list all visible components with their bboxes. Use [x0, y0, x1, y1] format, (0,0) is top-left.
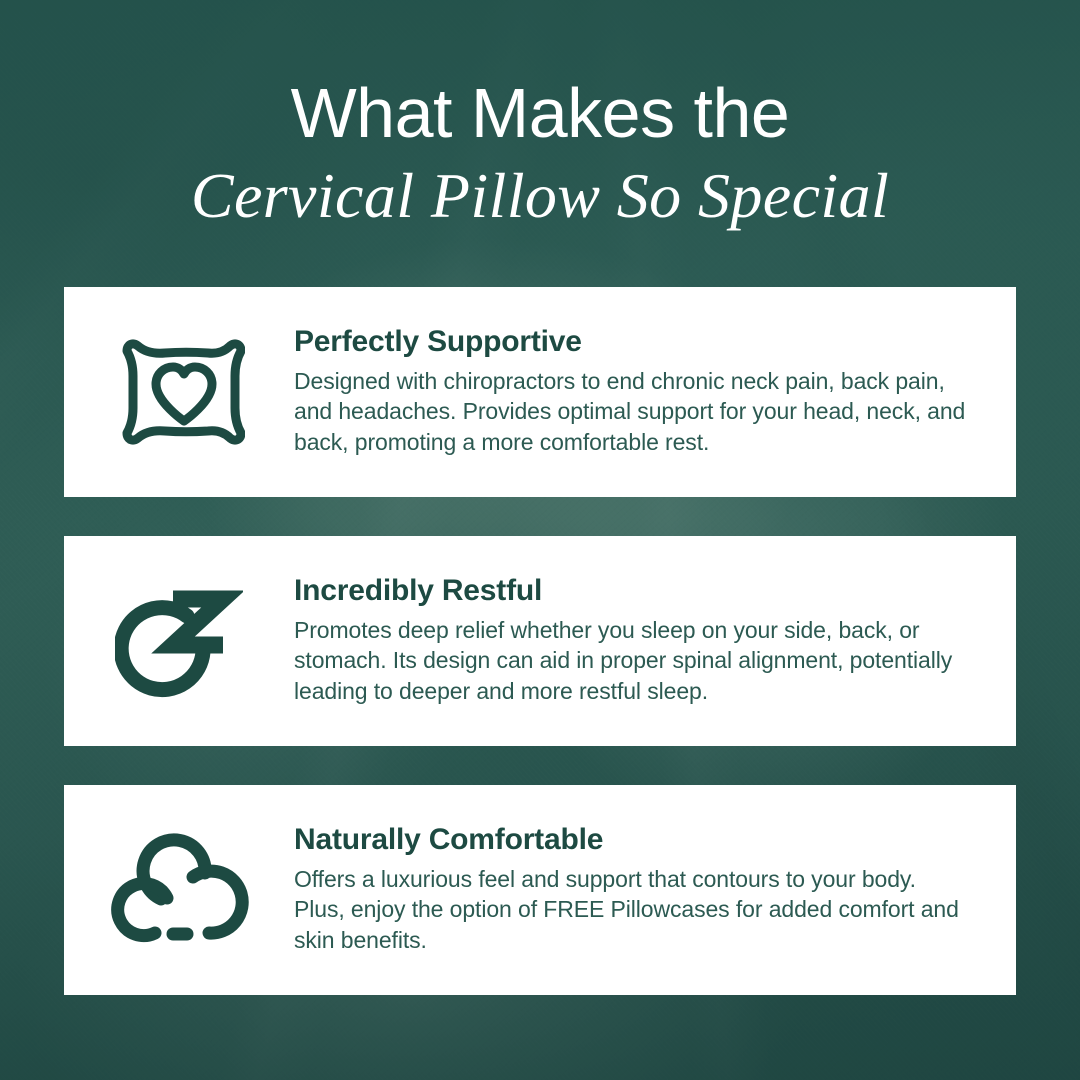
- cloud-icon: [64, 785, 294, 995]
- card-description: Designed with chiropractors to end chron…: [294, 366, 970, 458]
- header: What Makes the Cervical Pillow So Specia…: [0, 0, 1080, 229]
- headline-line-1: What Makes the: [0, 78, 1080, 148]
- card-description: Promotes deep relief whether you sleep o…: [294, 615, 970, 707]
- card-description: Offers a luxurious feel and support that…: [294, 864, 970, 956]
- card-title: Naturally Comfortable: [294, 824, 970, 856]
- feature-card-list: Perfectly Supportive Designed with chiro…: [64, 287, 1016, 995]
- card-title: Perfectly Supportive: [294, 326, 970, 358]
- card-body: Perfectly Supportive Designed with chiro…: [294, 326, 988, 457]
- feature-card-incredibly-restful[interactable]: Incredibly Restful Promotes deep relief …: [64, 536, 1016, 746]
- card-body: Naturally Comfortable Offers a luxurious…: [294, 824, 988, 955]
- feature-card-naturally-comfortable[interactable]: Naturally Comfortable Offers a luxurious…: [64, 785, 1016, 995]
- infographic-root: What Makes the Cervical Pillow So Specia…: [0, 0, 1080, 1080]
- card-title: Incredibly Restful: [294, 575, 970, 607]
- feature-card-perfectly-supportive[interactable]: Perfectly Supportive Designed with chiro…: [64, 287, 1016, 497]
- moon-zzz-sleep-icon: [64, 536, 294, 746]
- card-body: Incredibly Restful Promotes deep relief …: [294, 575, 988, 706]
- headline-line-2: Cervical Pillow So Special: [0, 162, 1080, 229]
- pillow-heart-icon: [64, 287, 294, 497]
